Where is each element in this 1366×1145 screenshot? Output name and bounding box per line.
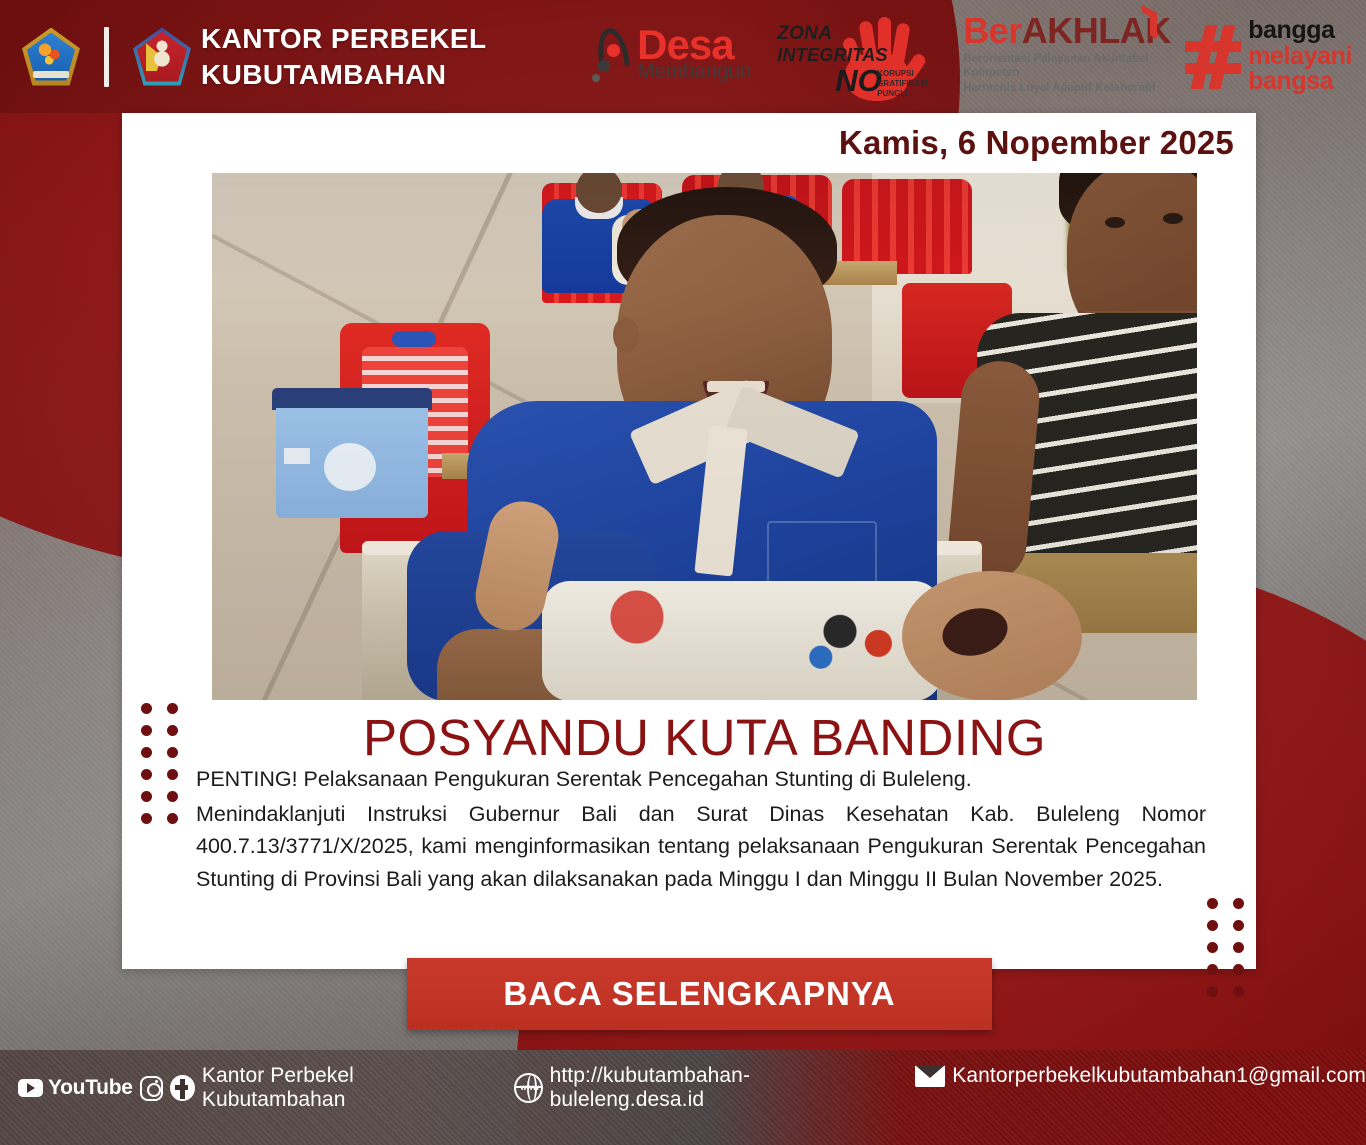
- baca-selengkapnya-button[interactable]: BACA SELENGKAPNYA: [407, 958, 992, 1030]
- buleleng-regency-emblem-icon: [133, 28, 191, 86]
- bangga-melayani-bangsa-logo: bangga melayani bangsa: [1185, 18, 1352, 95]
- header-divider: [104, 27, 109, 87]
- youtube-icon: [18, 1079, 43, 1097]
- desa-logo-line1: Desa: [637, 26, 751, 65]
- desa-membangun-mark-icon: [587, 26, 635, 88]
- bangga-line3: bangsa: [1248, 69, 1352, 95]
- footer-content: YouTube Kantor Perbekel Kubutambahan www…: [0, 1050, 1366, 1145]
- dot-grid-right: [1207, 898, 1244, 997]
- website-url: http://kubutambahan-buleleng.desa.id: [550, 1064, 890, 1112]
- hashtag-icon: [1185, 25, 1241, 89]
- berakhlak-sub-line2: Harmonis Loyal Adaptif Kolaboratif: [963, 81, 1159, 96]
- social-handle: Kantor Perbekel Kubutambahan: [202, 1064, 486, 1112]
- zona-sub-line1: KORUPSI: [877, 69, 928, 79]
- berakhlak-sub-line1: Berorientasi Pelayanan Akuntabel Kompete…: [963, 52, 1159, 81]
- desa-logo-line2: Membangun: [637, 62, 751, 81]
- posyandu-photo: [212, 173, 1197, 700]
- bangga-line2: melayani: [1248, 44, 1352, 70]
- dot-grid-left: [141, 703, 178, 824]
- youtube-label: YouTube: [48, 1076, 133, 1100]
- header-title: KANTOR PERBEKEL KUBUTAMBAHAN: [201, 21, 487, 93]
- envelope-icon: [915, 1065, 945, 1087]
- zona-logo-line1: ZONA: [777, 23, 888, 45]
- body-text: PENTING! Pelaksanaan Pengukuran Serentak…: [196, 763, 1206, 896]
- globe-icon: www: [514, 1073, 543, 1103]
- social-links-group: YouTube Kantor Perbekel Kubutambahan: [18, 1064, 486, 1112]
- bali-province-emblem-icon: [22, 28, 80, 86]
- page-title: POSYANDU KUTA BANDING: [212, 708, 1197, 767]
- header-title-line1: KANTOR PERBEKEL: [201, 21, 487, 57]
- website-link[interactable]: www http://kubutambahan-buleleng.desa.id: [514, 1064, 890, 1112]
- email-address: Kantorperbekelkubutambahan1@gmail.com: [952, 1064, 1366, 1088]
- berakhlak-ber: Ber: [963, 10, 1022, 51]
- facebook-icon[interactable]: [170, 1075, 194, 1101]
- body-lead: PENTING! Pelaksanaan Pengukuran Serentak…: [196, 763, 1206, 796]
- bangga-line1: bangga: [1248, 18, 1352, 44]
- body-paragraph: Menindaklanjuti Instruksi Gubernur Bali …: [196, 798, 1206, 896]
- youtube-link[interactable]: YouTube: [18, 1076, 133, 1100]
- cta-label: BACA SELENGKAPNYA: [503, 975, 895, 1013]
- www-label: www: [518, 1083, 542, 1092]
- header-bar: KANTOR PERBEKEL KUBUTAMBAHAN Desa Memban…: [0, 0, 1366, 113]
- zona-logo-sub: KORUPSI GRATIFIKASI PUNGLI: [877, 69, 928, 98]
- date-label: Kamis, 6 Nopember 2025: [839, 124, 1234, 162]
- header-logo-group: Desa Membangun ZONA INTEGRITAS NO KORUPS…: [587, 9, 1352, 105]
- header-title-line2: KUBUTAMBAHAN: [201, 57, 487, 93]
- desa-membangun-logo: Desa Membangun: [587, 26, 751, 88]
- zona-logo-no: NO: [835, 63, 882, 99]
- berakhlak-logo: BerAKHLAK Berorientasi Pelayanan Akuntab…: [963, 13, 1159, 101]
- zona-integritas-logo: ZONA INTEGRITAS NO KORUPSI GRATIFIKASI P…: [777, 9, 937, 105]
- email-link[interactable]: Kantorperbekelkubutambahan1@gmail.com: [915, 1064, 1366, 1088]
- content-card: Kamis, 6 Nopember 2025: [122, 113, 1256, 969]
- zona-sub-line2: GRATIFIKASI: [877, 79, 928, 89]
- instagram-icon[interactable]: [140, 1076, 164, 1101]
- zona-sub-line3: PUNGLI: [877, 89, 928, 99]
